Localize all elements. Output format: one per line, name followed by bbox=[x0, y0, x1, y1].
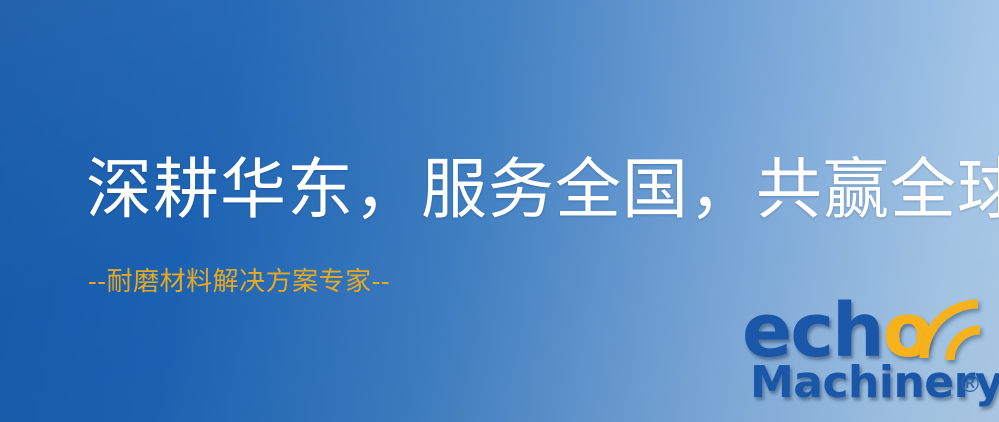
echo-waves-icon bbox=[908, 288, 999, 366]
page-title: 深耕华东，服务全国，共赢全球 bbox=[86, 152, 999, 228]
hero-banner: 深耕华东，服务全国，共赢全球 --耐磨材料解决方案专家-- echo Machi… bbox=[0, 0, 999, 422]
company-logo[interactable]: echo Machinery ® bbox=[742, 288, 999, 422]
page-subtitle: --耐磨材料解决方案专家-- bbox=[88, 266, 390, 298]
registered-trademark-icon: ® bbox=[958, 372, 982, 396]
